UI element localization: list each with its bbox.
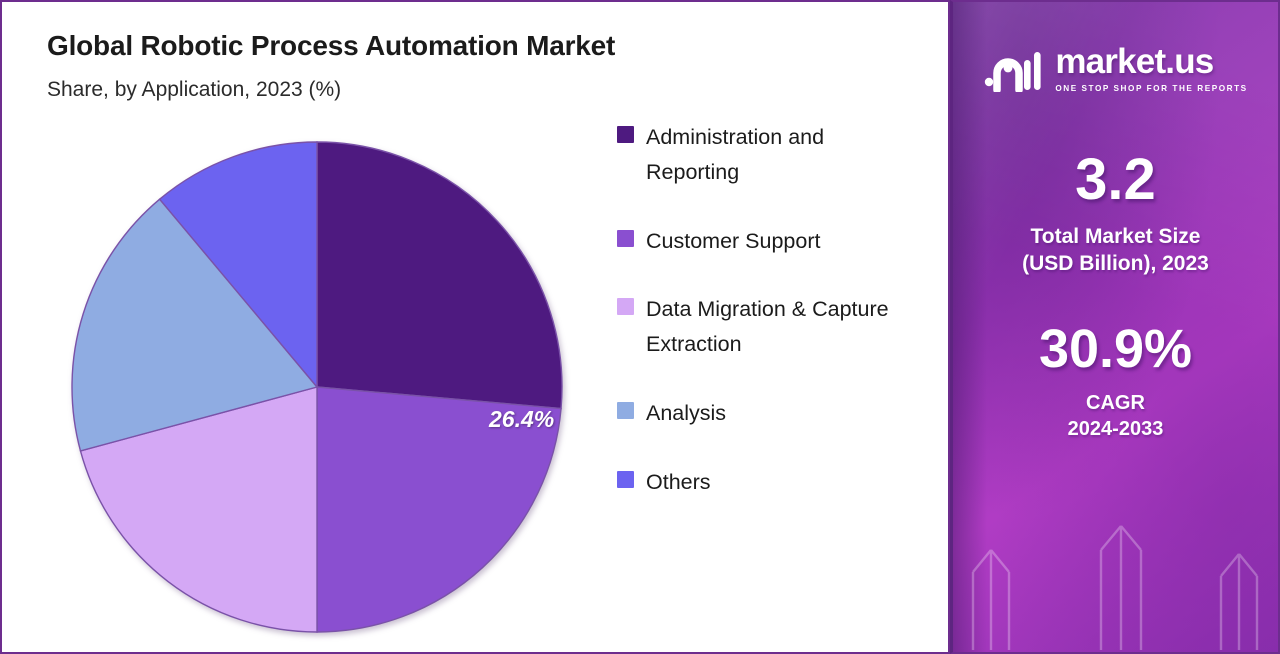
pie-slice[interactable]: [317, 142, 562, 409]
chart-title: Global Robotic Process Automation Market: [47, 30, 615, 62]
market-size-value: 3.2: [953, 151, 1278, 209]
market-us-logo[interactable]: market.us ONE STOP SHOP FOR THE REPORTS: [953, 2, 1278, 93]
brand-panel: $ market.us ONE STOP SHOP FOR THE REPORT…: [950, 0, 1280, 654]
logo-wordmark: market.us: [1055, 44, 1247, 79]
market-size-caption-line1: Total Market Size: [953, 223, 1278, 250]
legend-swatch-icon: [617, 298, 634, 315]
legend-item-label: Administration and Reporting: [646, 120, 906, 190]
cagr-caption-line2: 2024-2033: [953, 416, 1278, 442]
legend-item-label: Others: [646, 465, 711, 500]
infographic-root: Global Robotic Process Automation Market…: [0, 0, 1280, 654]
logo-text-block: market.us ONE STOP SHOP FOR THE REPORTS: [1055, 44, 1247, 93]
legend-swatch-icon: [617, 230, 634, 247]
pie-svg: [69, 139, 565, 635]
cagr-caption: CAGR 2024-2033: [953, 390, 1278, 442]
legend-item-label: Data Migration & Capture Extraction: [646, 292, 906, 362]
legend-swatch-icon: [617, 402, 634, 419]
pie-slice-data-label: 26.4%: [489, 406, 554, 433]
total-market-size-stat: 3.2 Total Market Size (USD Billion), 202…: [953, 151, 1278, 278]
market-size-caption-line2: (USD Billion), 2023: [953, 250, 1278, 277]
legend-item-customer-support[interactable]: Customer Support: [617, 224, 947, 259]
legend-item-administration-and-reporting[interactable]: Administration and Reporting: [617, 120, 947, 190]
legend-swatch-icon: [617, 471, 634, 488]
pie-chart: 26.4%: [69, 139, 565, 635]
legend-item-analysis[interactable]: Analysis: [617, 396, 947, 431]
market-us-logo-icon: [983, 46, 1043, 92]
legend-item-label: Customer Support: [646, 224, 820, 259]
chart-subtitle: Share, by Application, 2023 (%): [47, 78, 615, 102]
cagr-caption-line1: CAGR: [953, 390, 1278, 416]
legend-item-data-migration-capture-extraction[interactable]: Data Migration & Capture Extraction: [617, 292, 947, 362]
legend-swatch-icon: [617, 126, 634, 143]
chart-legend: Administration and Reporting Customer Su…: [617, 120, 947, 534]
chart-panel: Global Robotic Process Automation Market…: [0, 0, 950, 654]
logo-tagline: ONE STOP SHOP FOR THE REPORTS: [1055, 84, 1247, 93]
brand-content: market.us ONE STOP SHOP FOR THE REPORTS …: [953, 2, 1278, 652]
market-size-caption: Total Market Size (USD Billion), 2023: [953, 223, 1278, 278]
cagr-stat: 30.9% CAGR 2024-2033: [953, 322, 1278, 442]
legend-item-label: Analysis: [646, 396, 726, 431]
cagr-value: 30.9%: [953, 322, 1278, 376]
title-block: Global Robotic Process Automation Market…: [47, 30, 615, 102]
legend-item-others[interactable]: Others: [617, 465, 947, 500]
